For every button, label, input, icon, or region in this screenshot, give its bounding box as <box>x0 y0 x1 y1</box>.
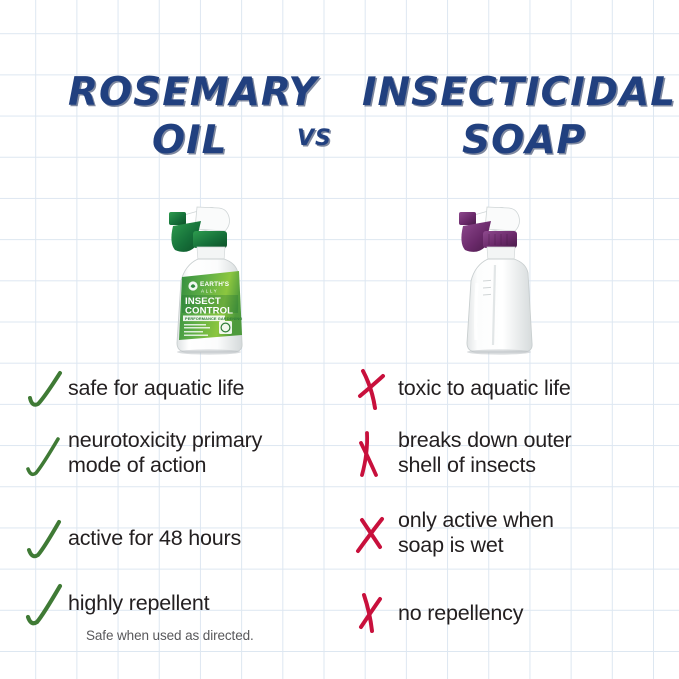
list-item: highly repellent <box>22 577 342 629</box>
list-item: safe for aquatic life <box>22 362 342 414</box>
collar <box>483 231 517 248</box>
insecticidal-soap-spray-bottle <box>425 195 555 355</box>
list-item: breaks down outer shell of insects <box>352 427 672 479</box>
check-icon <box>22 577 68 629</box>
list-item-text: only active when soap is wet <box>398 508 554 558</box>
svg-text:EARTH'S: EARTH'S <box>200 281 230 288</box>
list-item-text: active for 48 hours <box>68 526 241 551</box>
list-item-text: toxic to aquatic life <box>398 376 571 401</box>
list-item: only active when soap is wet <box>352 507 672 559</box>
title-rosemary: ROSEMARY <box>68 70 318 115</box>
svg-text:CONTROL: CONTROL <box>185 306 233 317</box>
cross-icon <box>352 587 398 639</box>
list-item-text: highly repellent <box>68 591 209 616</box>
title-insecticidal: INSECTICIDAL <box>362 70 676 115</box>
list-item: active for 48 hours <box>22 512 342 564</box>
title-oil: OIL <box>152 118 228 163</box>
nozzle-tip <box>169 212 186 225</box>
cross-icon <box>352 362 398 414</box>
title-soap: SOAP <box>462 118 586 163</box>
product-images: EARTH'S ALLY INSECT CONTROL PERFORMANCE … <box>0 195 679 355</box>
cross-icon <box>352 427 398 479</box>
svg-text:PERFORMANCE GARDENING: PERFORMANCE GARDENING <box>185 316 242 321</box>
infographic-canvas: ROSEMARY OIL VS INSECTICIDAL SOAP <box>0 0 679 679</box>
title-versus: VS <box>297 126 332 151</box>
list-item: toxic to aquatic life <box>352 362 672 414</box>
list-item: neurotoxicity primary mode of action <box>22 427 342 479</box>
svg-text:ALLY: ALLY <box>201 289 218 294</box>
title-block: ROSEMARY OIL VS INSECTICIDAL SOAP <box>0 62 679 172</box>
cross-icon <box>352 507 398 559</box>
list-item: no repellency <box>352 587 672 639</box>
check-icon <box>22 427 68 479</box>
list-item-text: breaks down outer shell of insects <box>398 428 571 478</box>
check-icon <box>22 362 68 414</box>
nozzle-tip <box>459 212 476 225</box>
comparison-columns: safe for aquatic life neurotoxicity prim… <box>0 352 679 652</box>
list-item-text: neurotoxicity primary mode of action <box>68 428 262 478</box>
list-item-text: no repellency <box>398 601 523 626</box>
check-icon <box>22 512 68 564</box>
rosemary-oil-spray-bottle: EARTH'S ALLY INSECT CONTROL PERFORMANCE … <box>135 195 265 355</box>
collar <box>193 231 227 248</box>
list-item-text: safe for aquatic life <box>68 376 244 401</box>
footnote-disclaimer: Safe when used as directed. <box>86 628 254 643</box>
